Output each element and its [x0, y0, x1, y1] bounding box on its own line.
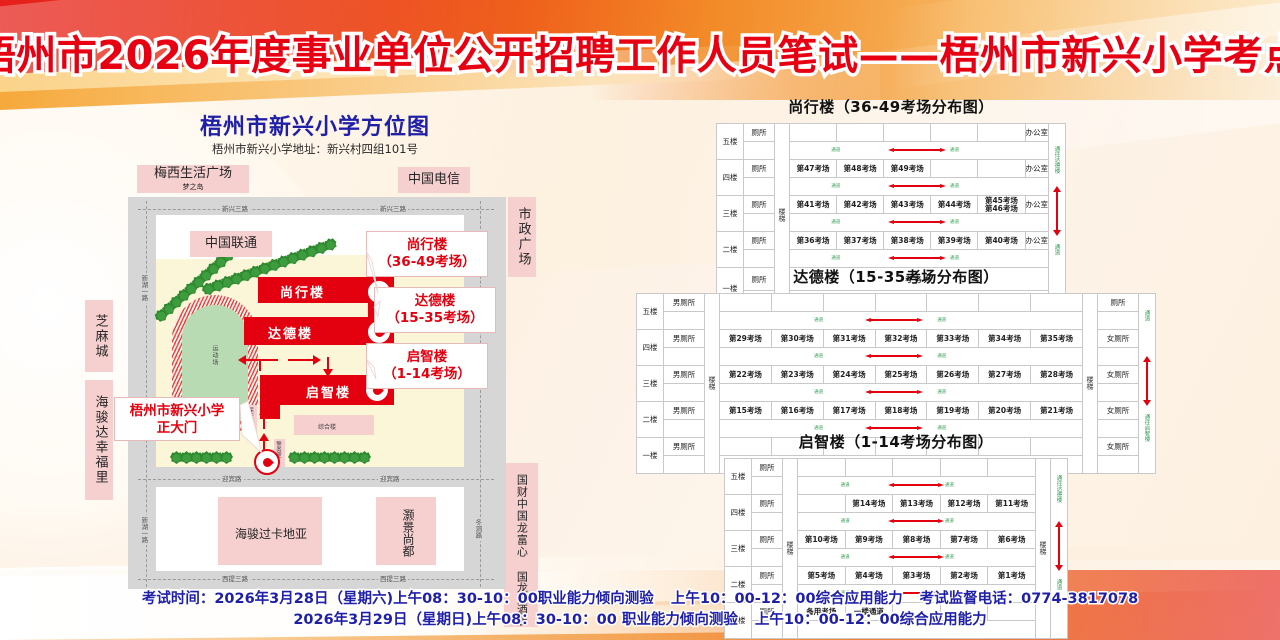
corridor-arrow	[865, 426, 923, 430]
room-cell	[771, 294, 823, 312]
restroom-cell: 厕所	[752, 495, 783, 513]
neighbor-guolong-fuxin-label: 国龙富心	[515, 510, 528, 558]
guard-room-1: 保安室	[246, 405, 257, 435]
room-cell: 第14考场	[845, 495, 893, 513]
building-complex-label: 综合楼	[318, 422, 336, 431]
table-row: 五楼 男厕所 楼梯 楼梯 厕所 通道 通往启智楼	[637, 294, 1156, 312]
footer: 考试时间：2026年3月28日（星期六)上午08：30-10：00职业能力倾向测…	[0, 589, 1280, 633]
floorplan-qizhi-title: 启智楼（1-14考场分布图）	[724, 431, 1068, 452]
corridor-spacer	[752, 513, 783, 531]
room-cell: 第12考场	[940, 495, 988, 513]
corridor-spacer	[752, 549, 783, 567]
corridor-label-right: 通道	[950, 147, 959, 153]
callout-main-gate: 梧州市新兴小学 正大门	[114, 397, 240, 441]
corridor-cell: 通道 通道	[790, 142, 1049, 160]
path-arrow-v2	[263, 413, 265, 429]
callout-shangxing: 尚行楼 （36-49考场）	[366, 231, 488, 277]
room-cell: 第32考场	[875, 330, 927, 348]
restroom-cell: 厕所	[744, 196, 775, 214]
neighbor-meixi-plaza: 梅西生活广场 梦之岛	[137, 165, 249, 193]
corridor-label-left: 通道	[841, 518, 850, 524]
corridor-label-left: 通道	[831, 255, 840, 261]
restroom-cell-right: 女厕所	[1098, 366, 1139, 384]
room-cell: 第24考场	[823, 366, 875, 384]
neighbor-meixi-plaza-sub: 梦之岛	[183, 183, 204, 191]
corridor-label-right: 通道	[945, 554, 954, 560]
restroom-cell: 男厕所	[664, 330, 705, 348]
path-arrow-h1	[244, 359, 278, 361]
corridor-label-left: 通道	[831, 219, 840, 225]
floorplan-shangxing-title: 尚行楼（36-49考场分布图）	[716, 96, 1066, 117]
road-dash-mid	[138, 479, 494, 480]
callout-dade-line2: （15-35考场）	[381, 310, 489, 327]
office-cell: 办公室	[1025, 232, 1049, 250]
corridor-row: 通道 通道	[717, 142, 1066, 160]
restroom-cell: 厕所	[752, 459, 783, 477]
corridor-row: 通道 通道	[725, 513, 1068, 531]
room-cell	[798, 459, 846, 477]
corridor-spacer	[664, 420, 705, 438]
room-cell: 第3考场	[893, 567, 941, 585]
callout-dade-line1: 达德楼	[381, 293, 489, 310]
neighbor-meixi-plaza-label: 梅西生活广场	[154, 167, 232, 182]
corridor-cell: 通道 通道	[720, 348, 1083, 366]
corridor-label-right: 通道	[950, 255, 959, 261]
corridor-row: 通道 通道	[717, 214, 1066, 232]
building-qizhi-label: 启智楼	[306, 382, 351, 401]
floorplan-dade-title: 达德楼（15-35考场分布图）	[636, 266, 1156, 287]
vertical-double-arrow	[1053, 186, 1061, 236]
room-cell: 第47考场	[790, 160, 837, 178]
corridor-label-right: 通道	[950, 219, 959, 225]
floor-label: 四楼	[725, 495, 752, 531]
corridor-label-right: 通道	[937, 317, 946, 323]
table-row: 三楼 厕所 第10考场 第9考场 第8考场 第7考场 第6考场	[725, 531, 1068, 549]
neighbor-china-unicom-label: 中国联通	[205, 237, 257, 252]
room-cell: 第25考场	[875, 366, 927, 384]
neighbor-guolong-group: 国财中 国龙富心	[504, 463, 538, 569]
room-cell: 第33考场	[927, 330, 979, 348]
neighbor-city-plaza-label: 市政广场	[515, 207, 530, 267]
side-vertical-text: 通往达德楼	[1053, 146, 1059, 174]
office-cell: 办公室	[1025, 160, 1049, 178]
room-cell	[978, 124, 1025, 142]
room-cell	[931, 160, 978, 178]
corridor-row: 通道 通道	[725, 477, 1068, 495]
corridor-label-right: 通道	[945, 518, 954, 524]
callout-main-gate-line1: 梧州市新兴小学	[121, 403, 233, 420]
corridor-cell: 通道 通道	[798, 513, 1036, 531]
path-arrow-v1-head	[323, 369, 333, 377]
side-vertical-text-2: 通道	[1053, 244, 1059, 255]
floor-label: 四楼	[637, 330, 664, 366]
room-cell	[931, 124, 978, 142]
room-cell: 第26考场	[927, 366, 979, 384]
map-title: 梧州市新兴小学方位图	[100, 109, 530, 141]
room-cell: 第23考场	[771, 366, 823, 384]
restroom-cell: 厕所	[744, 160, 775, 178]
floor-label: 五楼	[637, 294, 664, 330]
corridor-label-right: 通道	[937, 353, 946, 359]
corridor-arrow	[888, 184, 946, 188]
restroom-cell-right: 女厕所	[1098, 330, 1139, 348]
table-row: 五楼 厕所 楼梯 办公室 通往达德楼 通道	[717, 124, 1066, 142]
room-cell	[893, 459, 941, 477]
floor-label: 二楼	[637, 402, 664, 438]
corridor-row: 通道 通道	[717, 178, 1066, 196]
corridor-spacer	[664, 348, 705, 366]
corridor-cell: 通道 通道	[790, 214, 1049, 232]
room-cell: 第15考场	[720, 402, 772, 420]
corridor-cell: 通道 通道	[798, 477, 1036, 495]
stairs-cell-left: 楼梯	[705, 294, 720, 474]
room-cell: 第9考场	[845, 531, 893, 549]
room-cell: 第16考场	[771, 402, 823, 420]
room-cell: 第5考场	[798, 567, 846, 585]
room-cell: 第18考场	[875, 402, 927, 420]
tree-row-south-left	[170, 451, 230, 464]
side-column: 通道 通往启智楼	[1139, 294, 1156, 474]
footer-line-2: 2026年3月29日（星期日)上午08：30-10：00 职业能力倾向测验 上午…	[0, 610, 1280, 632]
neighbor-china-telecom-label: 中国电信	[408, 173, 460, 188]
corridor-row: 通道 通道	[717, 250, 1066, 268]
callout-shangxing-line1: 尚行楼	[373, 237, 481, 254]
poster-title: 梧州市2026年度事业单位公开招聘工作人员笔试——梧州市新兴小学考点	[0, 23, 1280, 81]
room-cell	[978, 160, 1025, 178]
office-cell: 办公室	[1025, 124, 1049, 142]
corridor-cell: 通道 通道	[790, 178, 1049, 196]
corridor-label-left: 通道	[814, 353, 823, 359]
poster-title-wrap: 梧州市2026年度事业单位公开招聘工作人员笔试——梧州市新兴小学考点	[0, 22, 1280, 82]
vertical-double-arrow	[1055, 521, 1063, 571]
corridor-arrow	[865, 354, 923, 358]
road-label-top-left: 新兴三路	[220, 203, 250, 213]
stairs-label: 楼梯	[1085, 376, 1095, 390]
room-cell	[988, 459, 1036, 477]
stairs-label: 楼梯	[707, 376, 717, 390]
room-cell: 第44考场	[931, 196, 978, 214]
footer-supervision-phone: 考试监督电话：0774-3817078	[920, 591, 1139, 607]
corridor-spacer	[744, 214, 775, 232]
footer-afternoon-day2: 上午10：00-12：00综合应用能力	[755, 612, 987, 628]
room-cell: 第2考场	[940, 567, 988, 585]
room-cell: 第20考场	[979, 402, 1031, 420]
road-label-top-right: 新兴三路	[378, 203, 408, 213]
building-dade-label: 达德楼	[268, 323, 313, 342]
corridor-cell: 通道 通道	[790, 250, 1049, 268]
corridor-spacer	[664, 312, 705, 330]
road-label-mid-right: 迎宾路	[378, 473, 402, 483]
room-cell: 第10考场	[798, 531, 846, 549]
footer-afternoon-day1: 上午10：00-12：00综合应用能力	[671, 591, 903, 607]
corridor-label-right: 通道	[950, 183, 959, 189]
pin-main-gate[interactable]	[254, 449, 280, 475]
corridor-spacer	[744, 178, 775, 196]
room-cell: 第43考场	[884, 196, 931, 214]
corridor-spacer	[744, 250, 775, 268]
room-cell: 第35考场	[1031, 330, 1083, 348]
road-label-right-lower: 冬洞路	[474, 517, 481, 541]
table-row: 二楼 厕所 第5考场 第4考场 第3考场 第2考场 第1考场	[725, 567, 1068, 585]
table-row: 四楼 厕所 第47考场 第48考场 第49考场 办公室	[717, 160, 1066, 178]
corridor-cell: 通道 通道	[720, 312, 1083, 330]
corridor-row: 通道 通道	[725, 549, 1068, 567]
footer-exam-time-day2: 2026年3月29日（星期日)上午08：30-10：00 职业能力倾向测验	[293, 612, 738, 628]
room-cell: 第31考场	[823, 330, 875, 348]
footer-exam-time-day1: 考试时间：2026年3月28日（星期六)上午08：30-10：00职业能力倾向测…	[142, 591, 654, 607]
corridor-label-right: 通道	[945, 482, 954, 488]
parcel-haojing-shangdu-label: 灏景尚都	[400, 509, 417, 557]
corridor-arrow	[888, 555, 944, 559]
corridor-spacer	[744, 142, 775, 160]
room-cell: 第36考场	[790, 232, 837, 250]
corridor-spacer	[664, 384, 705, 402]
table-row: 四楼 厕所 第14考场 第13考场 第12考场 第11考场	[725, 495, 1068, 513]
restroom-cell: 厕所	[744, 124, 775, 142]
floor-label: 五楼	[717, 124, 744, 160]
poster-root: 梧州市2026年度事业单位公开招聘工作人员笔试——梧州市新兴小学考点 梧州市新兴…	[0, 0, 1280, 640]
corridor-cell: 通道 通道	[720, 384, 1083, 402]
corridor-spacer	[1098, 312, 1139, 330]
path-arrow-h1-head	[238, 355, 246, 365]
stairs-label: 楼梯	[785, 541, 795, 555]
table-row: 三楼 厕所 第41考场 第42考场 第43考场 第44考场 第45考场 第46考…	[717, 196, 1066, 214]
corridor-label-right: 通道	[937, 389, 946, 395]
corridor-label-left: 通道	[814, 317, 823, 323]
room-cell: 第22考场	[720, 366, 772, 384]
path-arrow-v2-head	[259, 407, 269, 415]
restroom-cell-right: 厕所	[1098, 294, 1139, 312]
room-cell	[845, 459, 893, 477]
room-cell: 第42考场	[837, 196, 884, 214]
neighbor-haijunda-label: 海骏达幸福里	[92, 395, 107, 485]
corridor-arrow	[888, 220, 946, 224]
corridor-arrow	[888, 519, 944, 523]
tree-row-south-right	[288, 451, 368, 464]
room-cell	[720, 294, 772, 312]
room-cell: 第30考场	[771, 330, 823, 348]
vertical-double-arrow	[1143, 356, 1151, 406]
room-cell: 第38考场	[884, 232, 931, 250]
callout-main-gate-line2: 正大门	[121, 420, 233, 437]
corridor-spacer	[1098, 384, 1139, 402]
side-vertical-text: 通往启智楼	[1143, 414, 1149, 442]
restroom-cell-right: 女厕所	[1098, 438, 1139, 456]
restroom-cell: 厕所	[744, 232, 775, 250]
stairs-label: 楼梯	[777, 208, 787, 222]
room-cell	[1031, 294, 1083, 312]
restroom-cell-right: 女厕所	[1098, 402, 1139, 420]
corridor-spacer	[1098, 420, 1139, 438]
room-cell: 第40考场	[978, 232, 1025, 250]
parcel-haijunguo-kadiya-label: 海骏过卡地亚	[235, 525, 307, 542]
path-arrow-v3-head	[259, 433, 269, 441]
map-panel: 梧州市新兴小学方位图 梧州市新兴小学地址：新兴村四组101号 梅西生活广场 梦之…	[100, 105, 530, 595]
neighbor-guocai-label: 国财中	[515, 474, 528, 510]
room-cell: 第41考场	[790, 196, 837, 214]
path-arrow-h2	[288, 359, 314, 361]
room-cell	[940, 459, 988, 477]
floor-label: 三楼	[637, 366, 664, 402]
road-dash-bottom	[138, 579, 494, 580]
road-label-mid-left: 迎宾路	[220, 473, 244, 483]
neighbor-china-unicom: 中国联通	[190, 231, 272, 257]
room-cell	[875, 294, 927, 312]
stairs-cell-right: 楼梯	[1083, 294, 1098, 474]
office-cell: 办公室	[1025, 196, 1049, 214]
corridor-arrow	[865, 390, 923, 394]
restroom-cell: 男厕所	[664, 402, 705, 420]
sports-field-label: 运动场	[210, 345, 219, 366]
room-cell	[837, 124, 884, 142]
footer-line-1: 考试时间：2026年3月28日（星期六)上午08：30-10：00职业能力倾向测…	[0, 589, 1280, 611]
room-cell	[979, 294, 1031, 312]
restroom-cell: 厕所	[752, 531, 783, 549]
callout-qizhi-line2: （1-14考场）	[373, 366, 481, 383]
neighbor-zhimacheng-label: 芝麻城	[92, 314, 107, 359]
corridor-arrow	[888, 256, 946, 260]
room-cell	[823, 294, 875, 312]
floor-label: 三楼	[725, 531, 752, 567]
floor-label: 五楼	[725, 459, 752, 495]
room-cell	[884, 124, 931, 142]
floor-label: 一楼	[637, 438, 664, 474]
floor-label: 四楼	[717, 160, 744, 196]
corridor-label-left: 通道	[831, 183, 840, 189]
corridor-spacer	[664, 456, 705, 474]
road-label-left-lower: 新湖一路	[140, 515, 147, 545]
room-cell: 第48考场	[837, 160, 884, 178]
callout-dade: 达德楼 （15-35考场）	[374, 287, 496, 333]
corridor-label-left: 通道	[831, 147, 840, 153]
room-cell: 第27考场	[979, 366, 1031, 384]
corridor-spacer	[1098, 348, 1139, 366]
room-cell-double: 第45考场 第46考场	[978, 196, 1025, 214]
floor-label: 二楼	[717, 232, 744, 268]
room-cell: 第37考场	[837, 232, 884, 250]
floor-label: 三楼	[717, 196, 744, 232]
room-cell: 第19考场	[927, 402, 979, 420]
callout-shangxing-line2: （36-49考场）	[373, 254, 481, 271]
room-cell: 第29考场	[720, 330, 772, 348]
neighbor-zhimacheng: 芝麻城	[85, 300, 113, 372]
corridor-arrow	[888, 483, 944, 487]
room-cell: 第7考场	[940, 531, 988, 549]
room-cell: 第4考场	[845, 567, 893, 585]
room-cell: 第39考场	[931, 232, 978, 250]
callout-qizhi: 启智楼 （1-14考场）	[366, 343, 488, 389]
room-cell: 第1考场	[988, 567, 1036, 585]
path-arrow-h2-head	[313, 355, 321, 365]
side-vertical-text-top: 通道	[1143, 310, 1149, 321]
road-label-bottom-left: 西提三路	[220, 573, 250, 583]
corridor-cell: 通道 通道	[798, 549, 1036, 567]
road-dash-top	[138, 209, 494, 210]
corridor-label-left: 通道	[841, 554, 850, 560]
corridor-label-left: 通道	[841, 482, 850, 488]
neighbor-haijunda: 海骏达幸福里	[85, 380, 113, 500]
stairs-label: 楼梯	[1038, 541, 1048, 555]
room-cell	[790, 124, 837, 142]
room-cell: 第13考场	[893, 495, 941, 513]
room-cell: 第49考场	[884, 160, 931, 178]
road-label-bottom-right: 西提三路	[378, 573, 408, 583]
neighbor-city-plaza: 市政广场	[508, 197, 536, 277]
corridor-arrow	[865, 318, 923, 322]
neighbor-china-telecom: 中国电信	[398, 167, 470, 193]
room-cell: 第28考场	[1031, 366, 1083, 384]
corridor-arrow	[888, 148, 946, 152]
table-row: 二楼 厕所 第36考场 第37考场 第38考场 第39考场 第40考场 办公室	[717, 232, 1066, 250]
callout-qizhi-line1: 启智楼	[373, 349, 481, 366]
building-shangxing-label: 尚行楼	[280, 282, 325, 301]
room-cell: 第11考场	[988, 495, 1036, 513]
corridor-label-left: 通道	[814, 389, 823, 395]
room-cell: 第34考场	[979, 330, 1031, 348]
side-vertical-text: 通往达德楼	[1055, 475, 1061, 503]
room-cell: 第8考场	[893, 531, 941, 549]
restroom-cell: 男厕所	[664, 294, 705, 312]
corridor-spacer	[1098, 456, 1139, 474]
path-arrow-v-stub	[259, 359, 261, 371]
table-row: 五楼 厕所 楼梯 楼梯 通往达德楼 通道	[725, 459, 1068, 477]
map-subtitle: 梧州市新兴小学地址：新兴村四组101号	[100, 141, 530, 157]
corridor-spacer	[752, 477, 783, 495]
room-cell: 第21考场	[1031, 402, 1083, 420]
room-cell	[798, 495, 846, 513]
guard-room-1-label: 保安室	[246, 405, 254, 424]
restroom-cell: 男厕所	[664, 438, 705, 456]
room-cell: 第17考场	[823, 402, 875, 420]
room-cell: 第6考场	[988, 531, 1036, 549]
road-label-left-upper: 新湖一路	[140, 273, 147, 303]
room-cell	[927, 294, 979, 312]
restroom-cell: 厕所	[752, 567, 783, 585]
restroom-cell: 男厕所	[664, 366, 705, 384]
